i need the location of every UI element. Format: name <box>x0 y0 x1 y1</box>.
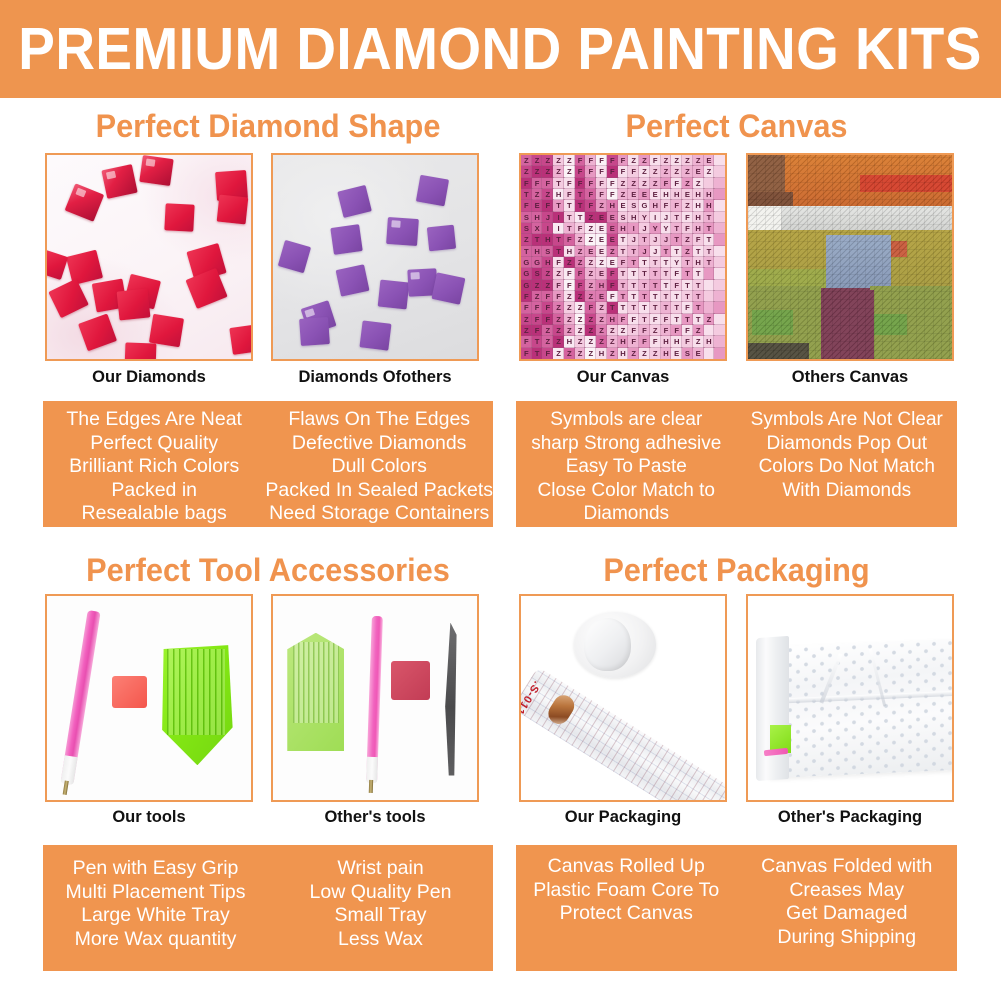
canvas-symbol-cell: Z <box>671 155 682 166</box>
canvas-symbol-cell: Z <box>542 166 553 177</box>
canvas-symbol-cell: J <box>628 234 639 245</box>
rolled-canvas <box>756 636 789 781</box>
canvas-symbol-cell: H <box>607 314 618 325</box>
canvas-symbol-cell: E <box>607 212 618 223</box>
canvas-symbol-cell <box>714 291 725 302</box>
canvas-symbol-cell: Z <box>521 314 532 325</box>
canvas-symbol-cell: F <box>682 336 693 347</box>
panel-text-line: Less Wax <box>338 928 423 952</box>
panel-column-others: Wrist painLow Quality PenSmall TrayLess … <box>268 845 493 971</box>
panel-text-line: Plastic Foam Core To <box>533 879 719 903</box>
canvas-symbol-cell: H <box>693 257 704 268</box>
panel-text-line: Flaws On The Edges <box>288 408 470 432</box>
canvas-symbol-cell: Z <box>661 166 672 177</box>
canvas-symbol-cell: H <box>693 223 704 234</box>
page-title: PREMIUM DIAMOND PAINTING KITS <box>19 20 983 79</box>
canvas-symbol-cell: F <box>618 314 629 325</box>
canvas-symbol-cell: Z <box>542 280 553 291</box>
canvas-symbol-cell: F <box>596 166 607 177</box>
canvas-symbol-cell: F <box>553 291 564 302</box>
canvas-symbol-cell: F <box>585 302 596 313</box>
canvas-symbol-cell: T <box>704 212 715 223</box>
canvas-symbol-cell: F <box>585 178 596 189</box>
panel-text-line: Perfect Quality <box>90 432 218 456</box>
canvas-symbol-cell: H <box>607 200 618 211</box>
section-title-canvas: Perfect Canvas <box>525 110 948 142</box>
canvas-symbol-cell: T <box>682 257 693 268</box>
canvas-symbol-cell: Z <box>575 302 586 313</box>
canvas-symbol-cell: J <box>661 234 672 245</box>
canvas-symbol-cell: Z <box>575 314 586 325</box>
canvas-symbol-cell: Z <box>650 325 661 336</box>
canvas-symbol-cell: Z <box>650 348 661 359</box>
canvas-symbol-cell: H <box>693 189 704 200</box>
canvas-symbol-cell: F <box>575 155 586 166</box>
canvas-symbol-cell: T <box>682 280 693 291</box>
canvas-symbol-cell <box>704 348 715 359</box>
canvas-symbol-cell: S <box>542 246 553 257</box>
canvas-symbol-cell: T <box>682 291 693 302</box>
canvas-symbol-cell: T <box>650 280 661 291</box>
canvas-symbol-cell: H <box>693 212 704 223</box>
canvas-symbol-cell: J <box>542 212 553 223</box>
canvas-symbol-cell: F <box>542 291 553 302</box>
canvas-symbol-cell: Z <box>553 155 564 166</box>
panel-text-line: With Diamonds <box>782 479 911 503</box>
canvas-symbol-cell: T <box>639 234 650 245</box>
canvas-symbol-cell: E <box>650 189 661 200</box>
canvas-symbol-cell: T <box>628 280 639 291</box>
canvas-symbol-cell: Z <box>542 336 553 347</box>
panel-column-others: Flaws On The EdgesDefective DiamondsDull… <box>265 401 493 527</box>
canvas-symbol-cell: F <box>596 155 607 166</box>
canvas-symbol-cell: Z <box>542 155 553 166</box>
canvas-symbol-cell: Z <box>661 155 672 166</box>
panel-text-line: Packed In Sealed Packets <box>265 479 493 503</box>
canvas-symbol-cell: E <box>596 268 607 279</box>
canvas-symbol-cell: T <box>650 268 661 279</box>
canvas-symbol-cell: Z <box>553 348 564 359</box>
canvas-symbol-cell: F <box>575 166 586 177</box>
canvas-symbol-cell: F <box>661 200 672 211</box>
canvas-symbol-cell: H <box>661 348 672 359</box>
canvas-symbol-cell: T <box>553 246 564 257</box>
comparison-panel-tool-accessories: Pen with Easy GripMulti Placement TipsLa… <box>43 845 493 971</box>
canvas-symbol-cell: Z <box>521 155 532 166</box>
canvas-symbol-cell: Z <box>682 200 693 211</box>
canvas-symbol-cell <box>714 234 725 245</box>
photo-others-tools <box>271 594 479 802</box>
panel-column-ours: Pen with Easy GripMulti Placement TipsLa… <box>43 845 268 971</box>
canvas-symbol-cell: F <box>650 155 661 166</box>
canvas-symbol-cell: F <box>585 189 596 200</box>
canvas-symbol-cell: F <box>521 178 532 189</box>
canvas-symbol-cell: F <box>521 336 532 347</box>
caption-our-canvas: Our Canvas <box>519 369 727 386</box>
canvas-symbol-cell: J <box>661 212 672 223</box>
canvas-symbol-cell: Z <box>682 166 693 177</box>
canvas-symbol-cell: F <box>596 189 607 200</box>
canvas-symbol-cell <box>714 302 725 313</box>
canvas-symbol-cell: Z <box>564 291 575 302</box>
canvas-symbol-cell: Z <box>521 166 532 177</box>
canvas-symbol-cell: F <box>532 314 543 325</box>
panel-text-line: Need Storage Containers <box>269 502 489 526</box>
canvas-symbol-cell: F <box>542 314 553 325</box>
canvas-symbol-cell: T <box>532 336 543 347</box>
canvas-symbol-cell: H <box>650 200 661 211</box>
canvas-symbol-cell: Z <box>682 155 693 166</box>
canvas-symbol-cell: Z <box>564 257 575 268</box>
canvas-symbol-cell <box>704 280 715 291</box>
photo-others-canvas <box>746 153 954 361</box>
canvas-symbol-cell: F <box>575 178 586 189</box>
caption-others-diamonds: Diamonds Ofothers <box>271 369 479 386</box>
canvas-symbol-cell: T <box>693 246 704 257</box>
canvas-symbol-cell: G <box>639 200 650 211</box>
canvas-symbol-cell <box>714 280 725 291</box>
canvas-symbol-cell: T <box>650 302 661 313</box>
photo-others-packaging <box>746 594 954 802</box>
canvas-symbol-cell: T <box>618 246 629 257</box>
panel-text-line: Protect Canvas <box>560 902 693 926</box>
canvas-symbol-cell: F <box>553 280 564 291</box>
canvas-symbol-cell: F <box>585 166 596 177</box>
canvas-symbol-cell: T <box>671 246 682 257</box>
canvas-symbol-cell: Z <box>564 325 575 336</box>
panel-text-line: Symbols Are Not Clear <box>751 408 943 432</box>
canvas-symbol-cell: F <box>585 155 596 166</box>
canvas-symbol-cell: T <box>564 212 575 223</box>
comparison-panel-canvas: Symbols are clearsharp Strong adhesiveEa… <box>516 401 957 527</box>
canvas-symbol-cell: Z <box>693 325 704 336</box>
canvas-symbol-cell: F <box>671 178 682 189</box>
canvas-symbol-cell: T <box>575 189 586 200</box>
canvas-symbol-cell <box>704 302 715 313</box>
canvas-symbol-cell: F <box>542 348 553 359</box>
canvas-symbol-cell: Z <box>607 348 618 359</box>
canvas-symbol-cell: T <box>628 268 639 279</box>
canvas-symbol-cell: H <box>704 189 715 200</box>
infographic-page: PREMIUM DIAMOND PAINTING KITS Perfect Di… <box>0 0 1001 1001</box>
canvas-symbol-cell: T <box>564 200 575 211</box>
canvas-symbol-cell: F <box>521 200 532 211</box>
canvas-symbol-cell: T <box>553 200 564 211</box>
canvas-symbol-cell: S <box>628 200 639 211</box>
canvas-symbol-cell: Z <box>607 336 618 347</box>
panel-text-line: Pen with Easy Grip <box>73 857 239 881</box>
canvas-symbol-cell: E <box>607 257 618 268</box>
canvas-symbol-cell: E <box>532 200 543 211</box>
canvas-symbol-cell: Z <box>564 348 575 359</box>
canvas-symbol-cell: H <box>542 257 553 268</box>
canvas-symbol-cell: T <box>704 223 715 234</box>
panel-text-line: Resealable bags <box>82 502 227 526</box>
canvas-symbol-cell: Z <box>521 325 532 336</box>
canvas-symbol-cell: Y <box>671 257 682 268</box>
caption-others-tools: Other's tools <box>271 809 479 826</box>
canvas-symbol-cell: T <box>693 302 704 313</box>
canvas-symbol-cell: Y <box>650 223 661 234</box>
canvas-symbol-cell: I <box>628 223 639 234</box>
canvas-symbol-cell: Z <box>553 166 564 177</box>
panel-text-line: During Shipping <box>777 926 916 950</box>
canvas-symbol-cell: T <box>532 348 543 359</box>
canvas-symbol-cell: E <box>628 189 639 200</box>
canvas-symbol-cell: H <box>596 348 607 359</box>
caption-our-packaging: Our Packaging <box>519 809 727 826</box>
canvas-symbol-cell: F <box>607 166 618 177</box>
canvas-symbol-cell: S <box>682 348 693 359</box>
panel-text-line: Diamonds Pop Out <box>766 432 927 456</box>
canvas-symbol-cell: Z <box>585 268 596 279</box>
photo-our-diamonds <box>45 153 253 361</box>
comparison-panel-packaging: Canvas Rolled UpPlastic Foam Core ToProt… <box>516 845 957 971</box>
canvas-symbol-cell: T <box>671 223 682 234</box>
canvas-symbol-cell: H <box>704 336 715 347</box>
canvas-symbol-cell: J <box>650 246 661 257</box>
canvas-symbol-cell: T <box>628 302 639 313</box>
canvas-symbol-cell: T <box>532 234 543 245</box>
canvas-symbol-cell: T <box>553 234 564 245</box>
photo-our-canvas: ZZZZZFFFFFZZFZZZZEZZZZZFFFFFFZZZZZEZFFFT… <box>519 153 727 361</box>
panel-text-line: Dull Colors <box>332 455 427 479</box>
canvas-symbol-cell: J <box>639 223 650 234</box>
canvas-symbol-cell: F <box>564 178 575 189</box>
canvas-symbol-cell: Z <box>542 189 553 200</box>
canvas-symbol-cell: F <box>607 178 618 189</box>
photo-our-packaging: .S-011 <box>519 594 727 802</box>
canvas-symbol-cell: F <box>542 178 553 189</box>
panel-text-line: Easy To Paste <box>566 455 687 479</box>
canvas-symbol-cell <box>714 325 725 336</box>
canvas-symbol-cell: Y <box>661 223 672 234</box>
canvas-symbol-cell: T <box>661 291 672 302</box>
canvas-symbol-cell: Z <box>532 189 543 200</box>
canvas-symbol-cell: F <box>661 178 672 189</box>
canvas-symbol-cell: T <box>553 178 564 189</box>
panel-text-line: sharp Strong adhesive <box>531 432 721 456</box>
canvas-symbol-cell: Z <box>521 234 532 245</box>
canvas-symbol-cell: H <box>661 336 672 347</box>
canvas-symbol-cell <box>714 166 725 177</box>
canvas-symbol-cell: T <box>564 223 575 234</box>
canvas-symbol-cell: F <box>639 325 650 336</box>
canvas-symbol-cell: Z <box>585 348 596 359</box>
canvas-symbol-cell: F <box>607 291 618 302</box>
canvas-symbol-cell: Z <box>542 325 553 336</box>
canvas-symbol-cell: F <box>521 291 532 302</box>
canvas-symbol-cell: Z <box>575 234 586 245</box>
canvas-symbol-cell: T <box>693 280 704 291</box>
tube-cap-cone <box>584 618 631 671</box>
bubble-mailer <box>770 639 954 778</box>
canvas-symbol-cell: G <box>521 280 532 291</box>
canvas-symbol-cell: T <box>671 314 682 325</box>
comparison-panel-diamond-shape: The Edges Are NeatPerfect QualityBrillia… <box>43 401 493 527</box>
canvas-symbol-cell: F <box>628 166 639 177</box>
canvas-symbol-cell: T <box>628 246 639 257</box>
canvas-symbol-cell <box>714 348 725 359</box>
canvas-symbol-cell <box>714 212 725 223</box>
canvas-symbol-cell: Z <box>639 166 650 177</box>
caption-others-packaging: Other's Packaging <box>746 809 954 826</box>
canvas-symbol-cell <box>714 200 725 211</box>
canvas-symbol-cell: T <box>628 291 639 302</box>
canvas-symbol-cell: T <box>618 234 629 245</box>
canvas-symbol-cell: E <box>682 189 693 200</box>
canvas-symbol-cell: H <box>564 336 575 347</box>
canvas-symbol-cell: Z <box>607 246 618 257</box>
panel-text-line: Defective Diamonds <box>292 432 467 456</box>
canvas-symbol-cell: Z <box>585 314 596 325</box>
canvas-symbol-cell: F <box>575 223 586 234</box>
canvas-symbol-cell: Z <box>704 166 715 177</box>
canvas-symbol-cell: H <box>618 223 629 234</box>
canvas-symbol-cell: T <box>661 280 672 291</box>
photo-others-diamonds <box>271 153 479 361</box>
canvas-symbol-cell: F <box>532 325 543 336</box>
canvas-symbol-cell: F <box>671 200 682 211</box>
canvas-symbol-cell: H <box>564 246 575 257</box>
canvas-symbol-cell: Z <box>553 268 564 279</box>
canvas-symbol-cell: S <box>532 268 543 279</box>
canvas-symbol-cell: T <box>607 302 618 313</box>
panel-text-line: Colors Do Not Match <box>759 455 935 479</box>
canvas-symbol-cell: F <box>607 268 618 279</box>
canvas-symbol-cell: Z <box>564 155 575 166</box>
canvas-symbol-cell: T <box>671 234 682 245</box>
canvas-symbol-cell: T <box>704 246 715 257</box>
canvas-symbol-cell: Z <box>585 336 596 347</box>
canvas-symbol-cell: S <box>618 212 629 223</box>
canvas-symbol-cell: Z <box>585 291 596 302</box>
page-header-banner: PREMIUM DIAMOND PAINTING KITS <box>0 0 1001 98</box>
canvas-symbol-cell: T <box>639 302 650 313</box>
canvas-symbol-cell: F <box>628 325 639 336</box>
canvas-symbol-cell: Z <box>575 336 586 347</box>
canvas-symbol-cell: Z <box>585 234 596 245</box>
canvas-symbol-cell <box>704 291 715 302</box>
canvas-symbol-cell: H <box>693 200 704 211</box>
canvas-symbol-cell: E <box>704 155 715 166</box>
canvas-symbol-cell <box>714 257 725 268</box>
canvas-symbol-cell: T <box>521 189 532 200</box>
canvas-symbol-cell <box>714 155 725 166</box>
wax-square <box>112 676 147 709</box>
canvas-symbol-cell: F <box>564 268 575 279</box>
canvas-symbol-cell: J <box>639 246 650 257</box>
canvas-symbol-cell: H <box>618 336 629 347</box>
canvas-symbol-cell: T <box>639 291 650 302</box>
canvas-symbol-cell: S <box>521 223 532 234</box>
canvas-symbol-cell: F <box>661 325 672 336</box>
canvas-symbol-cell: Z <box>682 246 693 257</box>
canvas-symbol-cell: F <box>671 268 682 279</box>
canvas-symbol-cell: T <box>671 291 682 302</box>
canvas-symbol-cell: Z <box>693 155 704 166</box>
canvas-symbol-cell: F <box>682 325 693 336</box>
caption-others-canvas: Others Canvas <box>746 369 954 386</box>
canvas-symbol-cell: F <box>682 223 693 234</box>
photo-our-tools <box>45 594 253 802</box>
canvas-symbol-cell: Z <box>553 314 564 325</box>
panel-text-line: Diamonds <box>583 502 669 526</box>
canvas-symbol-cell: E <box>618 200 629 211</box>
canvas-symbol-cell: T <box>661 302 672 313</box>
canvas-symbol-cell <box>714 178 725 189</box>
canvas-symbol-cell: T <box>639 257 650 268</box>
canvas-symbol-cell: F <box>618 257 629 268</box>
canvas-symbol-cell: Z <box>628 178 639 189</box>
canvas-symbol-cell: H <box>553 189 564 200</box>
canvas-symbol-cell: Z <box>564 302 575 313</box>
canvas-symbol-cell: H <box>704 200 715 211</box>
canvas-symbol-cell: E <box>596 234 607 245</box>
canvas-symbol-cell: H <box>532 246 543 257</box>
panel-text-line: Packed in <box>111 479 197 503</box>
canvas-symbol-cell: H <box>596 280 607 291</box>
canvas-symbol-cell: Z <box>585 257 596 268</box>
canvas-symbol-cell: Z <box>693 336 704 347</box>
canvas-symbol-cell: F <box>628 314 639 325</box>
canvas-symbol-cell: Z <box>585 223 596 234</box>
canvas-symbol-cell: F <box>618 166 629 177</box>
canvas-symbol-cell: E <box>693 166 704 177</box>
canvas-symbol-cell: Z <box>553 336 564 347</box>
canvas-symbol-cell: Z <box>596 336 607 347</box>
canvas-symbol-cell: H <box>618 348 629 359</box>
canvas-symbol-cell: Z <box>532 166 543 177</box>
panel-text-line: More Wax quantity <box>75 928 237 952</box>
canvas-symbol-cell: Z <box>650 166 661 177</box>
canvas-symbol-cell: Z <box>639 155 650 166</box>
panel-text-line: Symbols are clear <box>550 408 702 432</box>
canvas-symbol-cell: E <box>671 348 682 359</box>
panel-column-others: Symbols Are Not ClearDiamonds Pop OutCol… <box>737 401 958 527</box>
panel-column-ours: Canvas Rolled UpPlastic Foam Core ToProt… <box>516 845 737 971</box>
section-title-tool-accessories: Perfect Tool Accessories <box>52 554 484 586</box>
canvas-symbol-cell <box>714 189 725 200</box>
canvas-symbol-cell: F <box>682 212 693 223</box>
canvas-symbol-cell <box>714 314 725 325</box>
canvas-symbol-cell: T <box>650 257 661 268</box>
canvas-symbol-cell: Z <box>553 302 564 313</box>
canvas-symbol-cell: T <box>618 291 629 302</box>
panel-text-line: Canvas Folded with <box>761 855 932 879</box>
canvas-symbol-cell: E <box>639 189 650 200</box>
panel-text-line: The Edges Are Neat <box>66 408 242 432</box>
panel-column-others: Canvas Folded withCreases MayGet Damaged… <box>737 845 958 971</box>
canvas-symbol-cell: I <box>650 212 661 223</box>
canvas-symbol-cell: Z <box>628 155 639 166</box>
canvas-symbol-cell <box>704 325 715 336</box>
canvas-symbol-cell: Z <box>596 302 607 313</box>
canvas-symbol-cell: T <box>704 257 715 268</box>
canvas-symbol-cell: Z <box>585 212 596 223</box>
canvas-symbol-cell: H <box>628 212 639 223</box>
canvas-symbol-cell: T <box>682 268 693 279</box>
canvas-symbol-cell: E <box>596 223 607 234</box>
canvas-symbol-cell: H <box>532 212 543 223</box>
canvas-symbol-cell: F <box>650 314 661 325</box>
canvas-symbol-cell: Z <box>575 348 586 359</box>
canvas-symbol-cell: H <box>661 189 672 200</box>
canvas-symbol-cell: Z <box>618 189 629 200</box>
panel-text-line: Low Quality Pen <box>310 881 452 905</box>
canvas-symbol-cell: Z <box>650 178 661 189</box>
panel-text-line: Multi Placement Tips <box>66 881 246 905</box>
